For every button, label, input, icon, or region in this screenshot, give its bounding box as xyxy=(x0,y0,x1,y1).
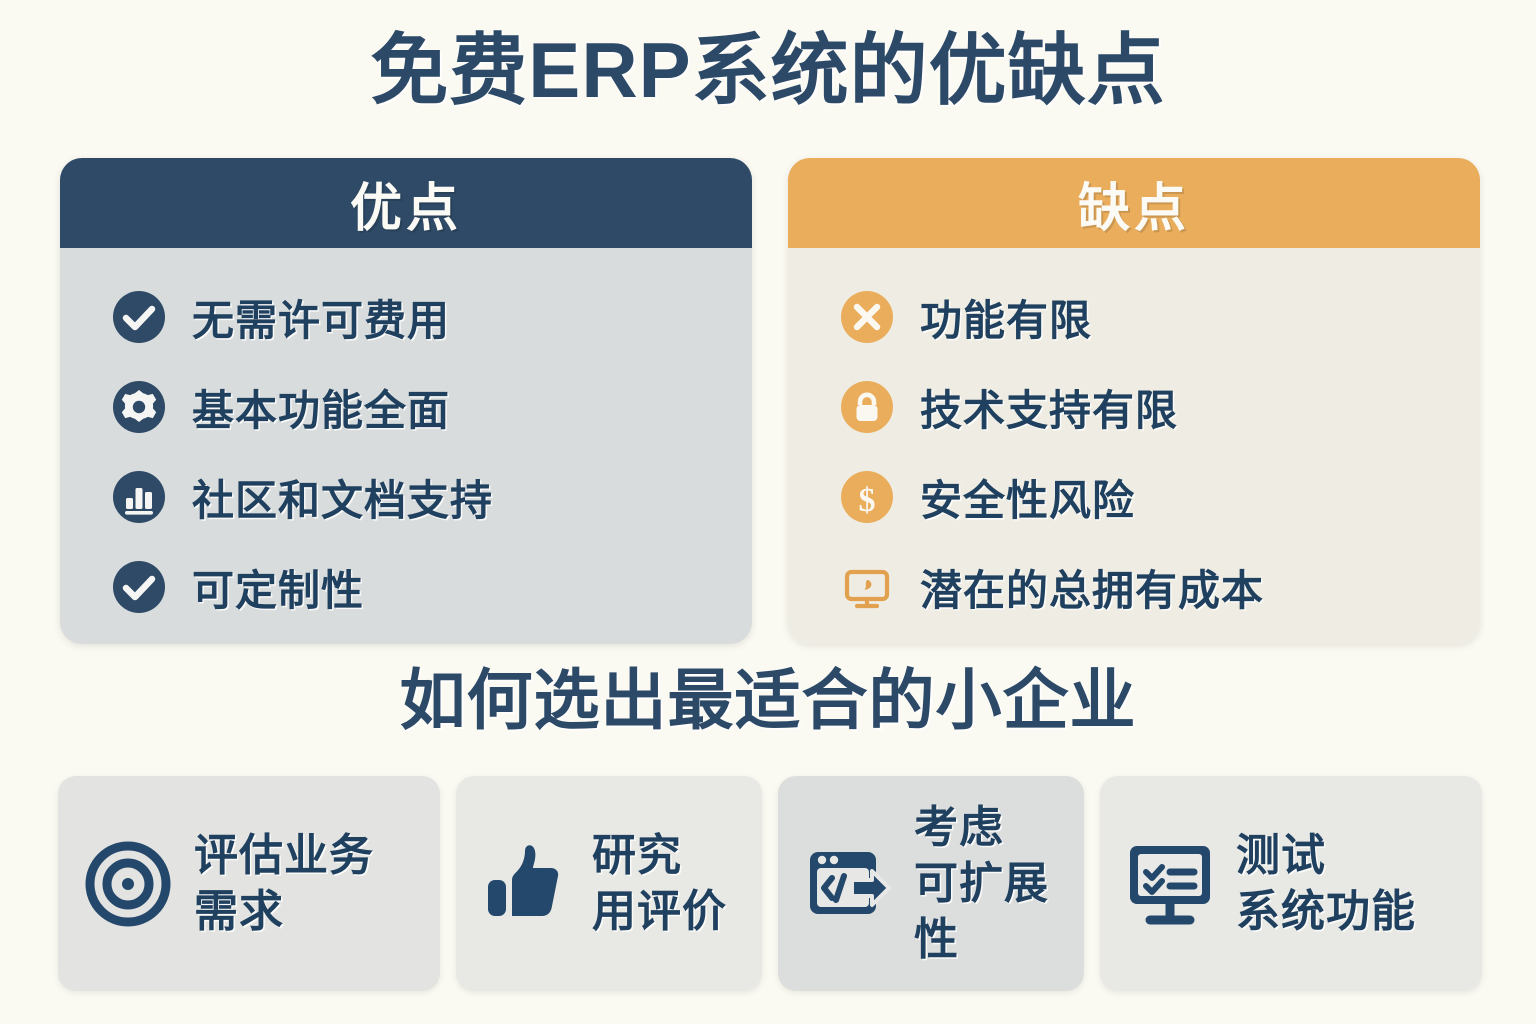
step-card-label: 考虑 可扩展 性 xyxy=(914,800,1049,968)
infographic-page: 免费ERP系统的优缺点 优点 无需许可费用 xyxy=(0,0,1536,1024)
bar-chart-circle-icon xyxy=(112,470,166,524)
cons-list-item: 潜在的总拥有成本 xyxy=(840,548,1480,626)
cons-list-item-label: 安全性风险 xyxy=(920,467,1135,528)
cons-card-heading: 缺点 xyxy=(788,158,1480,248)
step-card-line: 用评价 xyxy=(592,884,727,940)
step-card-line: 系统功能 xyxy=(1236,884,1416,940)
pros-list-item-label: 可定制性 xyxy=(192,557,364,618)
cons-list-item-label: 潜在的总拥有成本 xyxy=(920,557,1264,618)
x-circle-icon xyxy=(840,290,894,344)
pros-list-item: 基本功能全面 xyxy=(112,368,752,446)
step-card-test-features: 测试 系统功能 xyxy=(1100,776,1482,991)
step-card-line: 评估业务 xyxy=(194,828,374,884)
pros-card-heading: 优点 xyxy=(60,158,752,248)
step-card-assess-needs: 评估业务 需求 xyxy=(58,776,440,991)
step-card-label: 测试 系统功能 xyxy=(1236,828,1416,940)
svg-text:$: $ xyxy=(859,482,876,519)
cons-list-item-label: 功能有限 xyxy=(920,287,1092,348)
steps-row: 评估业务 需求 研究 用评价 xyxy=(58,776,1482,991)
target-icon xyxy=(80,836,176,932)
window-arrow-icon xyxy=(800,836,896,932)
check-circle-icon xyxy=(112,290,166,344)
pros-list: 无需许可费用 基本功能全面 xyxy=(60,248,752,644)
pros-list-item-label: 社区和文档支持 xyxy=(192,467,493,528)
step-card-line: 研究 xyxy=(592,828,727,884)
pros-list-item: 无需许可费用 xyxy=(112,278,752,356)
cons-list-item: 技术支持有限 xyxy=(840,368,1480,446)
step-card-research-reviews: 研究 用评价 xyxy=(456,776,762,991)
step-card-label: 研究 用评价 xyxy=(592,828,727,940)
page-title: 免费ERP系统的优缺点 xyxy=(0,24,1536,116)
step-card-line: 性 xyxy=(914,912,1049,968)
step-card-line: 需求 xyxy=(194,884,374,940)
thumbs-up-icon xyxy=(478,836,574,932)
monitor-checklist-icon xyxy=(1122,836,1218,932)
cons-list-item: 功能有限 xyxy=(840,278,1480,356)
step-card-consider-scalability: 考虑 可扩展 性 xyxy=(778,776,1084,991)
gear-circle-icon xyxy=(112,380,166,434)
cons-list: 功能有限 技术支持有限 xyxy=(788,248,1480,644)
pros-card: 优点 无需许可费用 xyxy=(60,158,752,644)
pros-list-item: 可定制性 xyxy=(112,548,752,626)
pros-list-item-label: 基本功能全面 xyxy=(192,377,450,438)
pros-list-item: 社区和文档支持 xyxy=(112,458,752,536)
step-card-line: 可扩展 xyxy=(914,856,1049,912)
pros-cons-row: 优点 无需许可费用 xyxy=(60,158,1480,644)
dollar-circle-icon: $ xyxy=(840,470,894,524)
monitor-outline-icon xyxy=(840,560,894,614)
step-card-line: 测试 xyxy=(1236,828,1416,884)
check-circle-icon xyxy=(112,560,166,614)
cons-card: 缺点 功能有限 xyxy=(788,158,1480,644)
step-card-label: 评估业务 需求 xyxy=(194,828,374,940)
lock-circle-icon xyxy=(840,380,894,434)
cons-list-item: $ 安全性风险 xyxy=(840,458,1480,536)
step-card-line: 考虑 xyxy=(914,800,1049,856)
section-subtitle: 如何选出最适合的小企业 xyxy=(0,660,1536,740)
pros-list-item-label: 无需许可费用 xyxy=(192,287,450,348)
cons-list-item-label: 技术支持有限 xyxy=(920,377,1178,438)
